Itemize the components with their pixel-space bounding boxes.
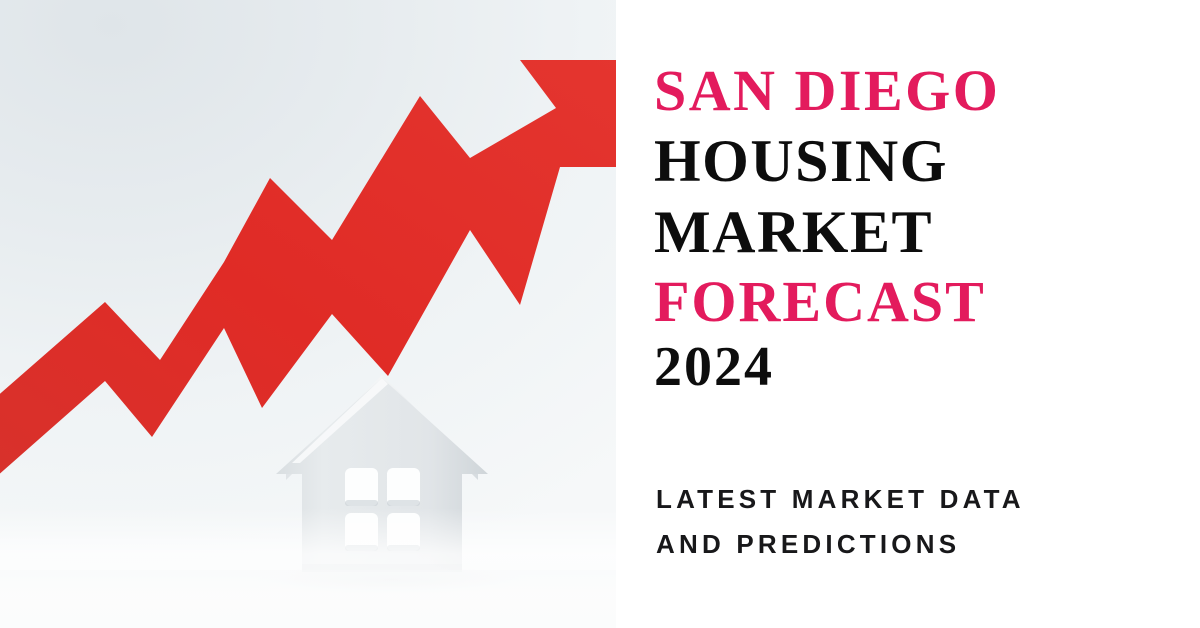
headline-line-housing: HOUSING: [654, 131, 1174, 191]
white-model-house: [276, 375, 488, 572]
headline-line-forecast: FORECAST: [654, 273, 1174, 331]
house-window-shadow: [345, 500, 378, 506]
house-window-shadow: [387, 500, 420, 506]
headline-line-san-diego: SAN DIEGO: [654, 62, 1174, 120]
subtitle-block: LATEST MARKET DATA AND PREDICTIONS: [656, 486, 1196, 559]
housing-market-illustration: [0, 0, 616, 628]
headline-line-year: 2024: [654, 339, 1174, 395]
headline-block: SAN DIEGO HOUSING MARKET FORECAST 2024: [654, 62, 1174, 395]
subtitle-line-2: AND PREDICTIONS: [656, 531, 1196, 558]
photo-panel: [0, 0, 616, 628]
house-body: [276, 378, 488, 572]
house-window-shadow: [387, 545, 420, 551]
text-panel: SAN DIEGO HOUSING MARKET FORECAST 2024 L…: [616, 0, 1200, 628]
banner: SAN DIEGO HOUSING MARKET FORECAST 2024 L…: [0, 0, 1200, 628]
house-window-shadow: [345, 545, 378, 551]
rising-red-arrow: [0, 60, 616, 500]
subtitle-line-1: LATEST MARKET DATA: [656, 486, 1196, 513]
headline-line-market: MARKET: [654, 202, 1174, 262]
house-base-shadow: [302, 564, 462, 572]
